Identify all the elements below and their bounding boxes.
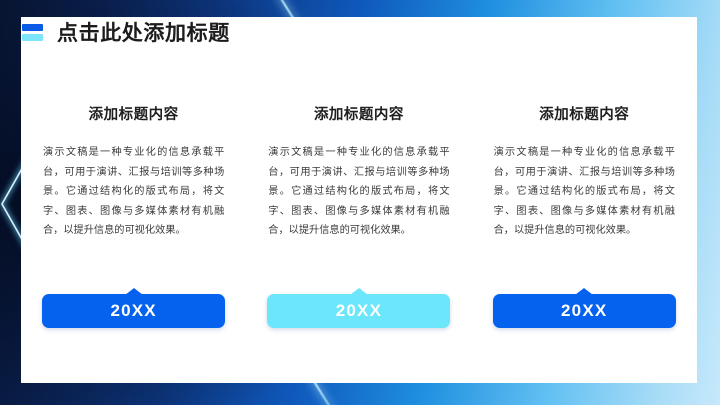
year-badge-label: 20XX	[561, 301, 607, 321]
page-title[interactable]: 点击此处添加标题	[57, 17, 230, 47]
column-body-text[interactable]: 演示文稿是一种专业化的信息承载平台，可用于演讲、汇报与培训等多种场景。它通过结构…	[494, 143, 675, 241]
slide-header: 点击此处添加标题	[22, 17, 230, 47]
column-title[interactable]: 添加标题内容	[89, 103, 179, 124]
column-body-text[interactable]: 演示文稿是一种专业化的信息承载平台，可用于演讲、汇报与培训等多种场景。它通过结构…	[268, 143, 449, 241]
title-bar-bottom	[22, 34, 43, 41]
column-body-text[interactable]: 演示文稿是一种专业化的信息承载平台，可用于演讲、汇报与培训等多种场景。它通过结构…	[43, 143, 224, 241]
title-bars-icon	[22, 24, 43, 41]
year-badge[interactable]: 20XX	[267, 294, 450, 328]
content-column: 添加标题内容 演示文稿是一种专业化的信息承载平台，可用于演讲、汇报与培训等多种场…	[472, 103, 697, 241]
year-badge[interactable]: 20XX	[493, 294, 676, 328]
slide-canvas: 点击此处添加标题 添加标题内容 演示文稿是一种专业化的信息承载平台，可用于演讲、…	[0, 0, 720, 405]
year-badges-row: 20XX 20XX 20XX	[21, 294, 697, 328]
year-badge[interactable]: 20XX	[42, 294, 225, 328]
badge-cell: 20XX	[472, 294, 697, 328]
badge-notch-icon	[125, 288, 143, 295]
badge-notch-icon	[350, 288, 368, 295]
title-bar-top	[22, 24, 43, 31]
content-columns: 添加标题内容 演示文稿是一种专业化的信息承载平台，可用于演讲、汇报与培训等多种场…	[21, 103, 697, 241]
year-badge-label: 20XX	[336, 301, 382, 321]
content-column: 添加标题内容 演示文稿是一种专业化的信息承载平台，可用于演讲、汇报与培训等多种场…	[21, 103, 246, 241]
content-column: 添加标题内容 演示文稿是一种专业化的信息承载平台，可用于演讲、汇报与培训等多种场…	[246, 103, 471, 241]
year-badge-label: 20XX	[110, 301, 156, 321]
badge-cell: 20XX	[246, 294, 471, 328]
column-title[interactable]: 添加标题内容	[314, 103, 404, 124]
badge-notch-icon	[575, 288, 593, 295]
badge-cell: 20XX	[21, 294, 246, 328]
column-title[interactable]: 添加标题内容	[539, 103, 629, 124]
